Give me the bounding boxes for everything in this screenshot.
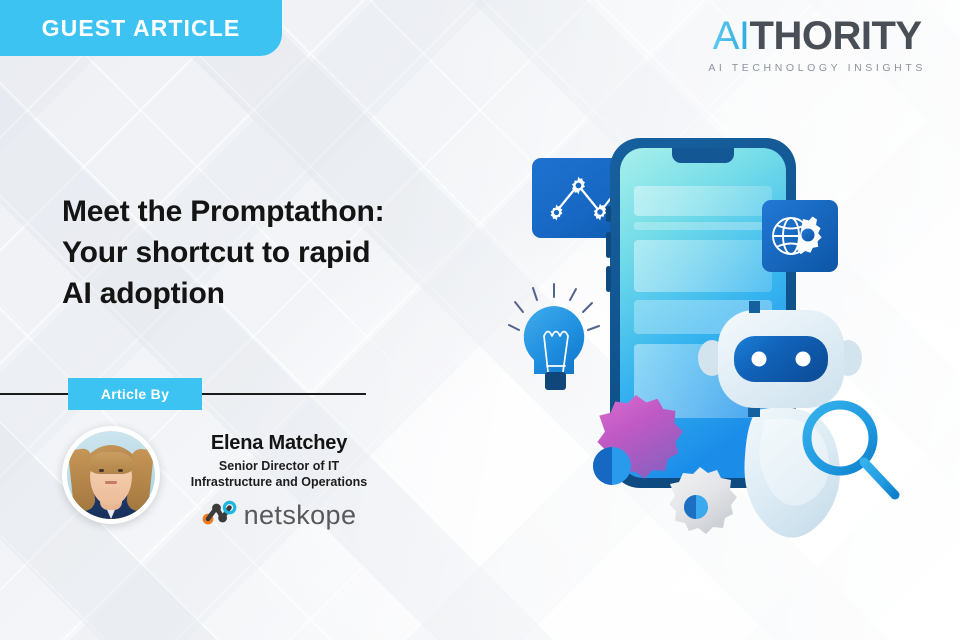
netskope-wordmark: netskope: [244, 502, 357, 529]
portrait-eye-left: [99, 469, 104, 472]
headline-line-3: AI adoption: [62, 274, 522, 315]
article-by-label: Article By: [101, 386, 169, 402]
logo-wordmark: AITHORITY: [708, 16, 926, 56]
portrait-fringe: [88, 452, 134, 474]
portrait-eye-right: [118, 469, 123, 472]
article-by-divider: Article By: [0, 378, 366, 410]
avatar: [62, 426, 160, 524]
guest-article-badge: GUEST ARTICLE: [0, 0, 282, 56]
netskope-mark-icon: [202, 500, 238, 531]
logo-tagline: AI TECHNOLOGY INSIGHTS: [708, 62, 926, 74]
author-title-line-1: Senior Director of IT: [219, 459, 339, 473]
author-title-line-2: Infrastructure and Operations: [191, 475, 367, 489]
ai-adoption-illustration: [500, 120, 960, 590]
logo-word-ai: AI: [713, 14, 750, 58]
headline-line-2: Your shortcut to rapid: [62, 233, 522, 274]
guest-article-badge-label: GUEST ARTICLE: [42, 15, 241, 42]
company-logo-netskope: netskope: [176, 500, 382, 531]
author-portrait: [67, 431, 155, 519]
portrait-mouth: [105, 481, 117, 484]
headline-line-1: Meet the Promptathon:: [62, 192, 522, 233]
guest-article-banner: GUEST ARTICLE AITHORITY AI TECHNOLOGY IN…: [0, 0, 960, 640]
author-details: Elena Matchey Senior Director of IT Infr…: [176, 426, 382, 531]
aithority-logo: AITHORITY AI TECHNOLOGY INSIGHTS: [708, 16, 926, 74]
article-by-chip: Article By: [68, 378, 202, 410]
globe-gear-card: [762, 200, 838, 272]
logo-word-thority: THORITY: [750, 14, 922, 58]
author-block: Elena Matchey Senior Director of IT Infr…: [62, 426, 382, 531]
lightbulb-icon: [509, 284, 599, 390]
author-title: Senior Director of IT Infrastructure and…: [176, 458, 382, 490]
page-title: Meet the Promptathon: Your shortcut to r…: [62, 192, 522, 314]
author-name: Elena Matchey: [176, 432, 382, 455]
